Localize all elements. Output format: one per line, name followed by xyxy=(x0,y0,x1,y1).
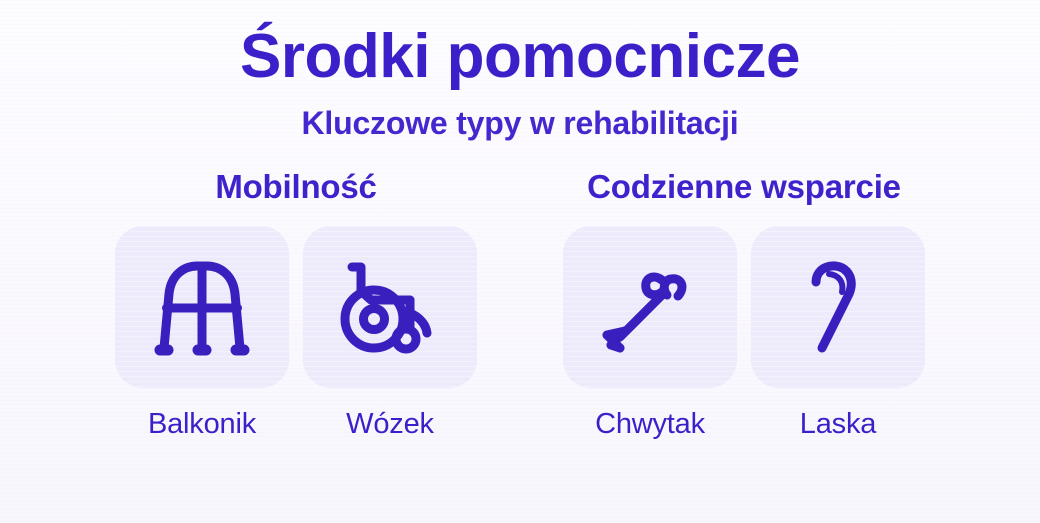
group-heading-daily-support: Codzienne wsparcie xyxy=(587,168,901,206)
page-subtitle: Kluczowe typy w rehabilitacji xyxy=(302,89,739,142)
page-title: Środki pomocnicze xyxy=(240,0,800,89)
card-label-walker: Balkonik xyxy=(148,408,256,441)
card-item-walker[interactable]: Balkonik xyxy=(114,226,290,441)
card-item-grabber[interactable]: Chwytak xyxy=(562,226,738,441)
icon-card-grabber[interactable] xyxy=(563,226,737,388)
card-item-wheelchair[interactable]: Wózek xyxy=(302,226,478,441)
card-label-wheelchair: Wózek xyxy=(346,408,434,441)
card-row-mobility: Balkonik xyxy=(114,226,478,441)
walker-icon xyxy=(147,252,257,362)
group-mobility: Mobilność xyxy=(114,168,478,441)
card-item-cane[interactable]: Laska xyxy=(750,226,926,441)
card-label-grabber: Chwytak xyxy=(595,408,705,441)
grabber-icon xyxy=(594,251,706,363)
group-daily-support: Codzienne wsparcie xyxy=(562,168,926,441)
category-groups: Mobilność xyxy=(0,168,1040,441)
card-label-cane: Laska xyxy=(800,408,876,441)
group-heading-mobility: Mobilność xyxy=(215,168,376,206)
icon-card-cane[interactable] xyxy=(751,226,925,388)
icon-card-walker[interactable] xyxy=(115,226,289,388)
wheelchair-icon xyxy=(334,251,446,363)
icon-card-wheelchair[interactable] xyxy=(303,226,477,388)
cane-icon xyxy=(782,251,894,363)
infographic-poster: Środki pomocnicze Kluczowe typy w rehabi… xyxy=(0,0,1040,523)
card-row-daily-support: Chwytak Laska xyxy=(562,226,926,441)
